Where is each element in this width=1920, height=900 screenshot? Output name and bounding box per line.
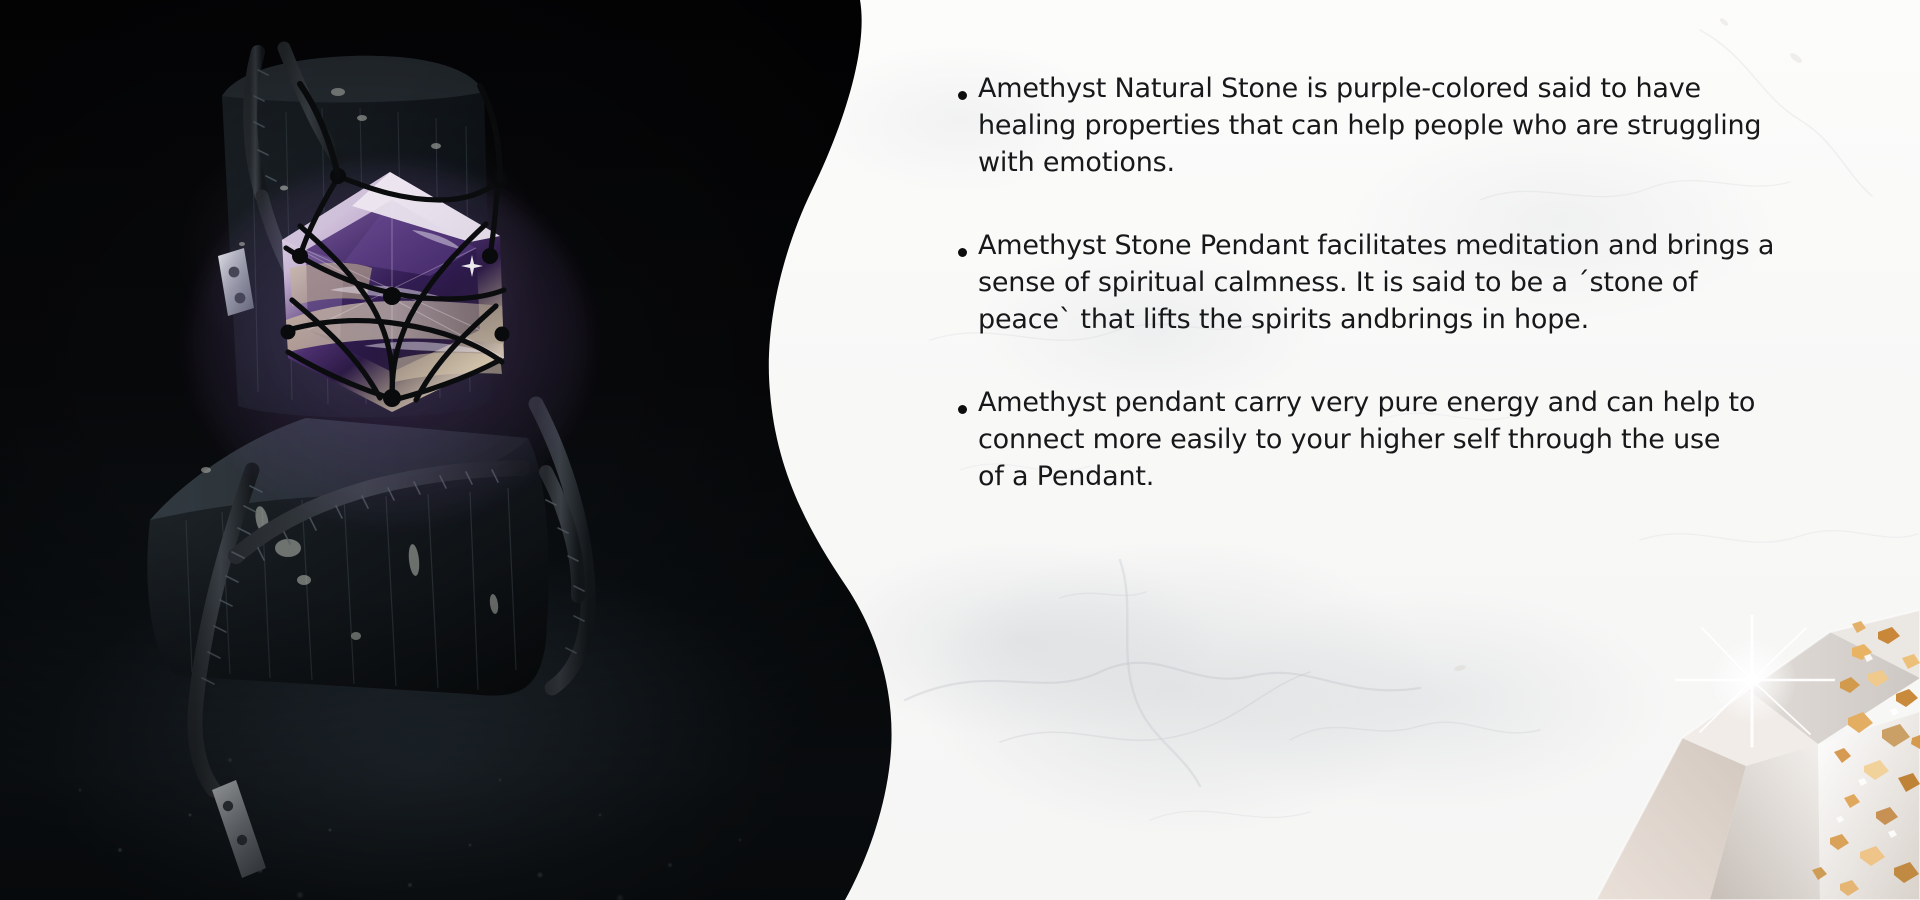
pendant-photo-illustration <box>0 0 900 900</box>
silver-clasp-lower <box>212 780 266 878</box>
product-infographic-banner: Amethyst Natural Stone is purple-colored… <box>0 0 1920 900</box>
bullet-dot-icon <box>958 91 967 100</box>
bullet-dot-icon <box>958 405 967 414</box>
list-item: Amethyst Stone Pendant facilitates medit… <box>958 227 1878 338</box>
bullet-text-1: Amethyst Natural Stone is purple-colored… <box>978 70 1878 181</box>
bullet-text-3: Amethyst pendant carry very pure energy … <box>978 384 1878 495</box>
list-item: Amethyst Natural Stone is purple-colored… <box>958 70 1878 181</box>
bullet-text-2: Amethyst Stone Pendant facilitates medit… <box>978 227 1878 338</box>
bullet-dot-icon <box>958 248 967 257</box>
benefits-copy-block: Amethyst Natural Stone is purple-colored… <box>958 70 1878 495</box>
list-item: Amethyst pendant carry very pure energy … <box>958 384 1878 495</box>
product-photo-region <box>0 0 900 900</box>
